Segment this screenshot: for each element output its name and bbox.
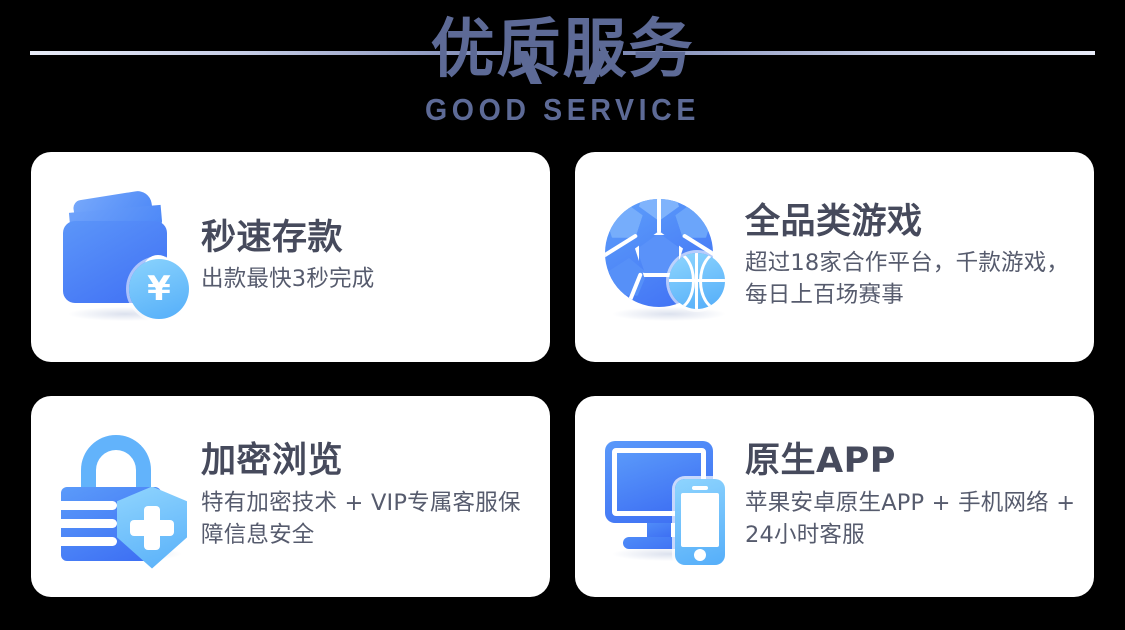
wallet-coin-icon: ¥ (55, 187, 195, 327)
padlock-stripe (61, 537, 117, 546)
page-subtitle: GOOD SERVICE (45, 92, 1080, 128)
basketball-seam (699, 253, 725, 309)
smartphone-icon (675, 479, 725, 565)
card-description: 超过18家合作平台，千款游戏，每日上百场赛事 (745, 248, 1082, 312)
card-title: 全品类游戏 (745, 202, 1082, 242)
feature-card-text: 全品类游戏 超过18家合作平台，千款游戏，每日上百场赛事 (739, 202, 1082, 312)
card-title: 原生APP (745, 441, 1082, 481)
card-description: 特有加密技术 + VIP专属客服保障信息安全 (201, 488, 538, 552)
soccer-panel (605, 199, 645, 245)
yen-symbol: ¥ (147, 272, 171, 306)
feature-card-all-games[interactable]: 全品类游戏 超过18家合作平台，千款游戏，每日上百场赛事 (575, 152, 1094, 362)
feature-card-native-app[interactable]: 原生APP 苹果安卓原生APP + 手机网络 + 24小时客服 (575, 396, 1094, 597)
card-title: 加密浏览 (201, 441, 538, 481)
page-title-block: 优质服务 GOOD SERVICE (0, 0, 1125, 128)
feature-card-grid: ¥ 秒速存款 出款最快3秒完成 (31, 152, 1094, 597)
phone-home-button (694, 549, 706, 561)
soccer-panel (673, 199, 713, 245)
lock-shield-icon (55, 427, 195, 567)
monitor-phone-icon (599, 427, 739, 567)
feature-card-text: 加密浏览 特有加密技术 + VIP专属客服保障信息安全 (195, 441, 538, 551)
padlock-stripe (61, 519, 117, 528)
page-title: 优质服务 (0, 0, 1125, 90)
cross-icon (130, 520, 174, 536)
basketball-icon (669, 253, 725, 309)
phone-screen (681, 493, 719, 547)
feature-card-text: 秒速存款 出款最快3秒完成 (195, 218, 538, 296)
soccer-seam (657, 199, 661, 233)
padlock-stripe (61, 501, 117, 510)
basketball-seam (669, 253, 695, 309)
card-title: 秒速存款 (201, 218, 538, 258)
page-header: 优质服务 GOOD SERVICE (0, 0, 1125, 150)
feature-card-encrypted-browsing[interactable]: 加密浏览 特有加密技术 + VIP专属客服保障信息安全 (31, 396, 550, 597)
yen-coin-icon: ¥ (129, 259, 189, 319)
card-description: 出款最快3秒完成 (201, 264, 538, 296)
feature-card-text: 原生APP 苹果安卓原生APP + 手机网络 + 24小时客服 (739, 441, 1082, 551)
feature-card-fast-deposit[interactable]: ¥ 秒速存款 出款最快3秒完成 (31, 152, 550, 362)
card-description: 苹果安卓原生APP + 手机网络 + 24小时客服 (745, 488, 1082, 552)
icon-shadow (613, 307, 725, 321)
phone-speaker (692, 486, 708, 490)
soccer-basketball-icon (599, 187, 739, 327)
